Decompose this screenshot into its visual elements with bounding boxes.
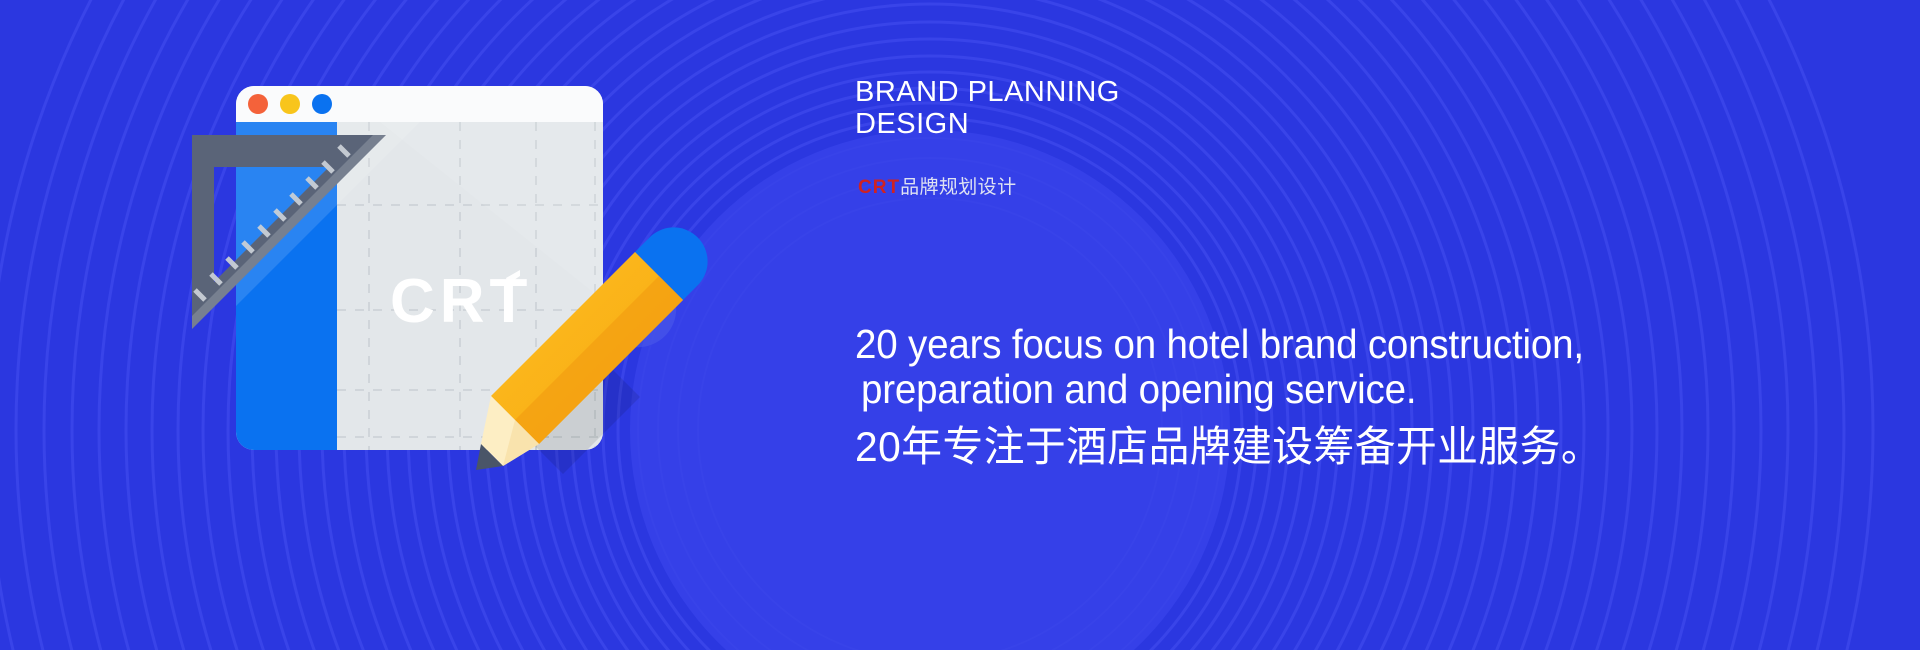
maximize-dot bbox=[312, 94, 332, 114]
headline-line-1: 20 years focus on hotel brand constructi… bbox=[855, 322, 1833, 367]
headline: 20 years focus on hotel brand constructi… bbox=[855, 322, 1895, 470]
minimize-dot bbox=[280, 94, 300, 114]
hero-illustration: CRT bbox=[0, 0, 900, 650]
close-dot bbox=[248, 94, 268, 114]
brand-banner: CRT bbox=[0, 0, 1920, 650]
headline-line-2: preparation and opening service. bbox=[861, 367, 1833, 412]
copy-block: BRAND PLANNING DESIGN CRT品牌规划设计 20 years… bbox=[855, 0, 1895, 650]
headline-line-cn: 20年专注于酒店品牌建设筹备开业服务。 bbox=[855, 424, 1864, 470]
brand-crt: CRT bbox=[858, 177, 900, 198]
eyebrow-title: BRAND PLANNING DESIGN bbox=[855, 76, 1455, 141]
eyebrow-subtitle: CRT品牌规划设计 bbox=[858, 172, 1016, 199]
eyebrow-subtitle-cn: 品牌规划设计 bbox=[900, 177, 1016, 198]
